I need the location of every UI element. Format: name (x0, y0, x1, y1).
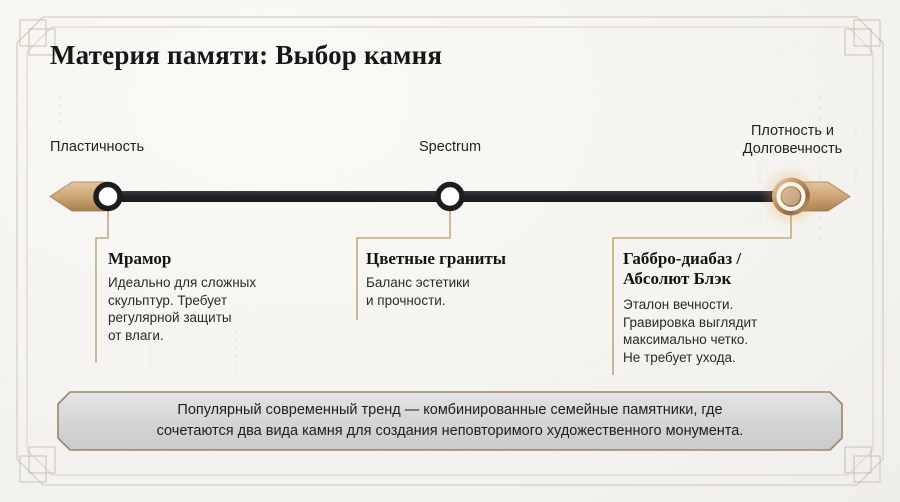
slide-canvas: Материя памяти: Выбор камня (0, 0, 900, 502)
callout-body: Баланс эстетики и прочности. (366, 274, 581, 309)
axis-label-right: Плотность и Долговечность (705, 122, 880, 158)
slide-title: Материя памяти: Выбор камня (50, 40, 442, 71)
axis-right-arrow (795, 182, 850, 211)
callout-body: Эталон вечности. Гравировка выглядит мак… (623, 296, 853, 366)
axis-label-center: Spectrum (370, 138, 530, 156)
callout-body: Идеально для сложных скульптур. Требует … (108, 274, 323, 344)
connector-marble (96, 207, 108, 362)
node-marble (96, 185, 120, 209)
axis-left-arrow (50, 182, 105, 211)
callout-gabbro: Габбро-диабаз / Абсолют Блэк Эталон вечн… (623, 249, 853, 366)
callout-heading: Цветные граниты (366, 249, 581, 269)
node-granite (438, 185, 462, 209)
callout-granite: Цветные граниты Баланс эстетики и прочно… (366, 249, 581, 309)
axis-label-left: Пластичность (50, 138, 210, 156)
node-gabbro (760, 166, 822, 228)
callout-heading: Мрамор (108, 249, 323, 269)
callout-heading: Габбро-диабаз / Абсолют Блэк (623, 249, 853, 289)
callout-marble: Мрамор Идеально для сложных скульптур. Т… (108, 249, 323, 344)
banner-text: Популярный современный тренд — комбиниро… (57, 391, 843, 451)
trend-banner: Популярный современный тренд — комбиниро… (57, 391, 843, 451)
axis-bar (70, 191, 830, 202)
